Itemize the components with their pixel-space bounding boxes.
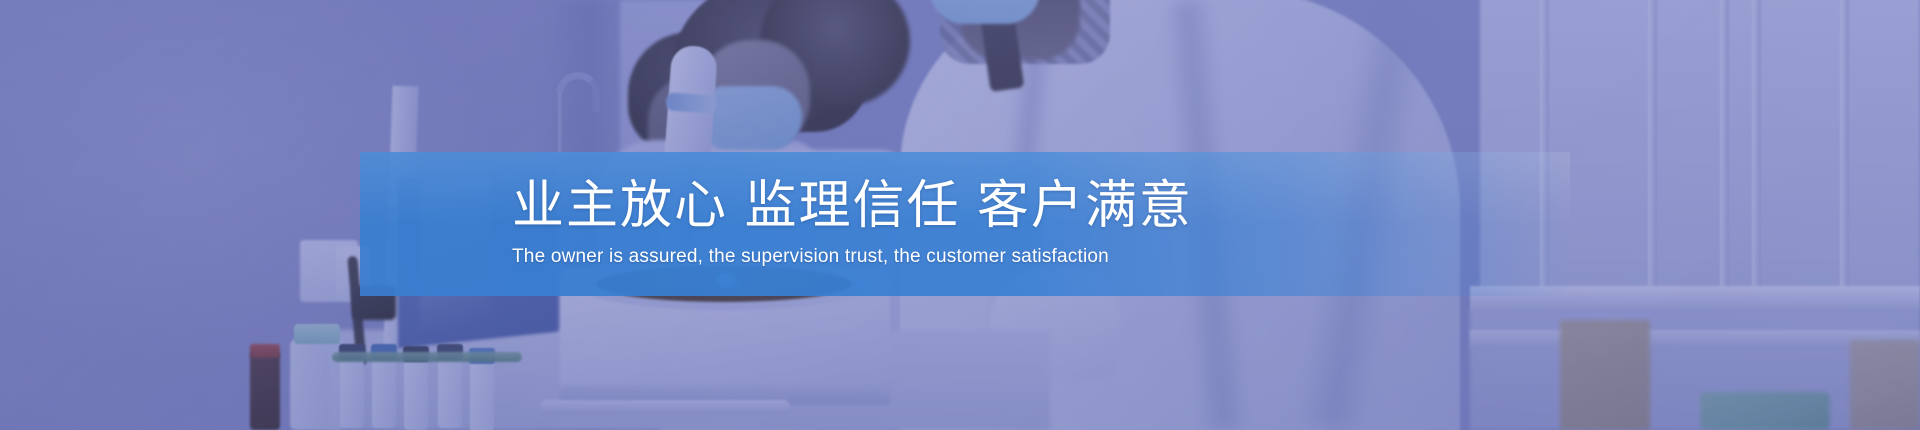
banner-headline: 业主放心 监理信任 客户满意 (512, 179, 1512, 234)
hero-banner: 业主放心 监理信任 客户满意 The owner is assured, the… (0, 0, 1920, 430)
banner-subline: The owner is assured, the supervision tr… (512, 246, 1512, 269)
headline-block: 业主放心 监理信任 客户满意 The owner is assured, the… (512, 152, 1512, 296)
